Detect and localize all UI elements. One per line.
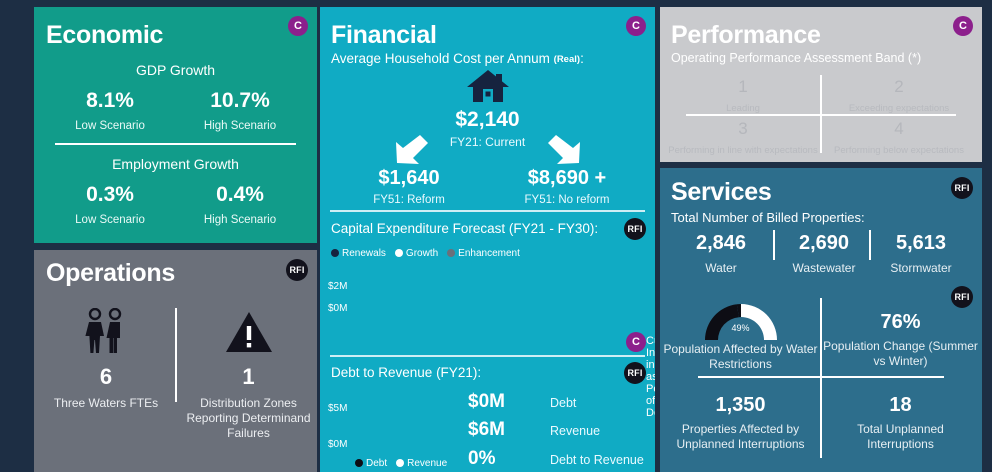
performance-band-1-number: 1 xyxy=(668,77,818,97)
services-properties-affected-label: Properties Affected by Unplanned Interru… xyxy=(663,422,818,452)
financial-no-reform-label: FY51: No reform xyxy=(492,194,642,206)
performance-band-2-label: Exceeding expectations xyxy=(824,103,974,114)
services-billed-heading: Total Number of Billed Properties: xyxy=(671,210,865,225)
donut-gauge-icon: 49% xyxy=(663,296,818,340)
financial-reform-value: $1,640 xyxy=(334,167,484,190)
services-billed-water-label: Water xyxy=(669,261,773,275)
services-population-change-value: 76% xyxy=(823,311,978,334)
financial-household-heading: Average Household Cost per Annum (Real): xyxy=(331,51,584,66)
performance-band-1-label: Leading xyxy=(668,103,818,114)
badge-rfi-services[interactable]: RFI xyxy=(951,177,973,199)
legend-label-enhancement: Enhancement xyxy=(458,248,520,259)
services-quadrant-divider-vertical xyxy=(820,298,822,458)
economic-gdp-high-value: 10.7% xyxy=(178,89,302,113)
badge-c-capex[interactable]: C xyxy=(626,332,646,352)
panel-title-economic: Economic xyxy=(46,21,163,50)
badge-rfi-debt[interactable]: RFI xyxy=(624,362,646,384)
debt-row-ratio: 0% Debt to Revenue xyxy=(468,448,644,470)
gauge-center-value: 49% xyxy=(663,323,818,333)
services-billed-wastewater-value: 2,690 xyxy=(772,232,876,255)
services-quadrant-divider-horizontal xyxy=(698,376,944,378)
performance-band-2-number: 2 xyxy=(824,77,974,97)
operations-metric-failures: 1 Distribution Zones Reporting Determina… xyxy=(186,302,311,441)
capex-legend: Renewals Growth Enhancement xyxy=(331,248,520,259)
economic-employment-low-value: 0.3% xyxy=(48,183,172,207)
economic-employment-low-label: Low Scenario xyxy=(48,214,172,226)
financial-current-value: $2,140 xyxy=(320,108,655,132)
services-population-change-label: Population Change (Summer vs Winter) xyxy=(823,339,978,369)
dashboard-root: Economic C GDP Growth 8.1% Low Scenario … xyxy=(0,0,992,472)
badge-c-performance[interactable]: C xyxy=(953,16,973,36)
debt-label-revenue: Revenue xyxy=(550,424,600,438)
capex-ytick-0m: $0M xyxy=(328,303,347,314)
badge-c-financial[interactable]: C xyxy=(626,16,646,36)
performance-band-4: 4 Performing below expectations xyxy=(824,119,974,156)
economic-employment-low: 0.3% Low Scenario xyxy=(48,183,172,226)
services-quadrant-population-change: 76% Population Change (Summer vs Winter) xyxy=(823,311,978,369)
financial-branch-no-reform: $8,690 + FY51: No reform xyxy=(492,133,642,206)
services-unplanned-interruptions-value: 18 xyxy=(823,394,978,417)
economic-employment-high-value: 0.4% xyxy=(178,183,302,207)
economic-gdp-high-label: High Scenario xyxy=(178,120,302,132)
panel-services: Services RFI Total Number of Billed Prop… xyxy=(660,168,982,472)
debt-value-revenue: $6M xyxy=(468,419,550,441)
performance-band-2: 2 Exceeding expectations xyxy=(824,77,974,114)
performance-band-4-label: Performing below expectations xyxy=(824,145,974,156)
panel-operations: Operations RFI 6 Three Waters FTEs xyxy=(34,250,317,472)
financial-household-heading-real: (Real) xyxy=(554,54,580,65)
legend-label-debt: Debt xyxy=(366,458,387,469)
services-unplanned-interruptions-label: Total Unplanned Interruptions xyxy=(823,422,978,452)
debt-ytick-0m: $0M xyxy=(328,439,347,450)
panel-title-performance: Performance xyxy=(671,21,821,50)
debt-legend: Debt Revenue xyxy=(355,458,447,469)
panel-title-operations: Operations xyxy=(46,259,175,288)
performance-band-3-label: Performing in line with expectations xyxy=(668,145,818,156)
financial-no-reform-value: $8,690 + xyxy=(492,167,642,190)
debt-ytick-5m: $5M xyxy=(328,403,347,414)
performance-band-3-number: 3 xyxy=(668,119,818,139)
panel-title-services: Services xyxy=(671,178,771,207)
financial-household-heading-colon: : xyxy=(580,51,584,66)
badge-c-economic[interactable]: C xyxy=(288,16,308,36)
badge-rfi-operations[interactable]: RFI xyxy=(286,259,308,281)
economic-employment-high-label: High Scenario xyxy=(178,214,302,226)
services-quadrant-unplanned-interruptions: 18 Total Unplanned Interruptions xyxy=(823,394,978,452)
debt-value-ratio: 0% xyxy=(468,448,550,470)
legend-label-renewals: Renewals xyxy=(342,248,386,259)
financial-reform-label: FY51: Reform xyxy=(334,194,484,206)
services-billed-stormwater: 5,613 Stormwater xyxy=(869,232,973,275)
performance-divider-horizontal xyxy=(686,114,956,116)
operations-divider xyxy=(175,308,177,402)
performance-band-3: 3 Performing in line with expectations xyxy=(668,119,818,156)
arrow-down-right-icon xyxy=(492,133,642,165)
debt-value-debt: $0M xyxy=(468,391,550,413)
capex-ytick-2m: $2M xyxy=(328,281,347,292)
services-billed-wastewater: 2,690 Wastewater xyxy=(772,232,876,275)
operations-metric-fte: 6 Three Waters FTEs xyxy=(46,302,166,411)
legend-label-growth: Growth xyxy=(406,248,438,259)
warning-triangle-icon xyxy=(186,302,311,354)
financial-branch-reform: $1,640 FY51: Reform xyxy=(334,133,484,206)
operations-fte-label: Three Waters FTEs xyxy=(46,396,166,411)
debt-label-ratio: Debt to Revenue xyxy=(550,453,644,467)
services-billed-water: 2,846 Water xyxy=(669,232,773,275)
capex-heading: Capital Expenditure Forecast (FY21 - FY3… xyxy=(331,221,598,236)
economic-section-heading-gdp: GDP Growth xyxy=(34,62,317,78)
financial-divider-2 xyxy=(330,355,645,357)
legend-item-growth: Growth xyxy=(395,248,438,259)
economic-employment-high: 0.4% High Scenario xyxy=(178,183,302,226)
services-properties-affected-value: 1,350 xyxy=(663,394,818,417)
services-billed-water-value: 2,846 xyxy=(669,232,773,255)
debt-heading: Debt to Revenue (FY21): xyxy=(331,365,481,380)
services-water-restrictions-label: Population Affected by Water Restriction… xyxy=(663,342,818,372)
legend-item-enhancement: Enhancement xyxy=(447,248,520,259)
services-billed-wastewater-label: Wastewater xyxy=(772,261,876,275)
operations-failures-label: Distribution Zones Reporting Determinand… xyxy=(186,396,311,441)
operations-fte-value: 6 xyxy=(46,364,166,390)
economic-section-heading-employment: Employment Growth xyxy=(34,156,317,172)
capex-note-label: Current Investment in Renewals as a Perc… xyxy=(646,335,655,419)
operations-failures-value: 1 xyxy=(186,364,311,390)
services-quadrant-water-restrictions: 49% Population Affected by Water Restric… xyxy=(663,296,818,372)
services-billed-stormwater-label: Stormwater xyxy=(869,261,973,275)
badge-rfi-capex[interactable]: RFI xyxy=(624,218,646,240)
legend-item-debt: Debt xyxy=(355,458,387,469)
services-quadrant-properties-affected: 1,350 Properties Affected by Unplanned I… xyxy=(663,394,818,452)
economic-gdp-high: 10.7% High Scenario xyxy=(178,89,302,132)
debt-row-debt: $0M Debt xyxy=(468,391,576,413)
panel-performance: Performance C Operating Performance Asse… xyxy=(660,7,982,162)
economic-gdp-low: 8.1% Low Scenario xyxy=(48,89,172,132)
panel-title-financial: Financial xyxy=(331,21,437,50)
panel-economic: Economic C GDP Growth 8.1% Low Scenario … xyxy=(34,7,317,243)
house-icon xyxy=(320,69,655,108)
economic-gdp-low-value: 8.1% xyxy=(48,89,172,113)
performance-subtitle: Operating Performance Assessment Band (*… xyxy=(671,51,921,65)
financial-divider-1 xyxy=(330,210,645,212)
debt-label-debt: Debt xyxy=(550,396,576,410)
badge-rfi-services-quadrants[interactable]: RFI xyxy=(951,286,973,308)
people-icon xyxy=(46,302,166,354)
economic-gdp-low-label: Low Scenario xyxy=(48,120,172,132)
legend-item-renewals: Renewals xyxy=(331,248,386,259)
arrow-down-left-icon xyxy=(334,133,484,165)
legend-label-revenue: Revenue xyxy=(407,458,447,469)
services-billed-stormwater-value: 5,613 xyxy=(869,232,973,255)
economic-divider xyxy=(55,143,296,145)
performance-band-1: 1 Leading xyxy=(668,77,818,114)
financial-household-heading-text: Average Household Cost per Annum xyxy=(331,51,550,66)
legend-item-revenue: Revenue xyxy=(396,458,447,469)
debt-row-revenue: $6M Revenue xyxy=(468,419,600,441)
panel-financial: Financial C Average Household Cost per A… xyxy=(320,7,655,472)
performance-band-4-number: 4 xyxy=(824,119,974,139)
